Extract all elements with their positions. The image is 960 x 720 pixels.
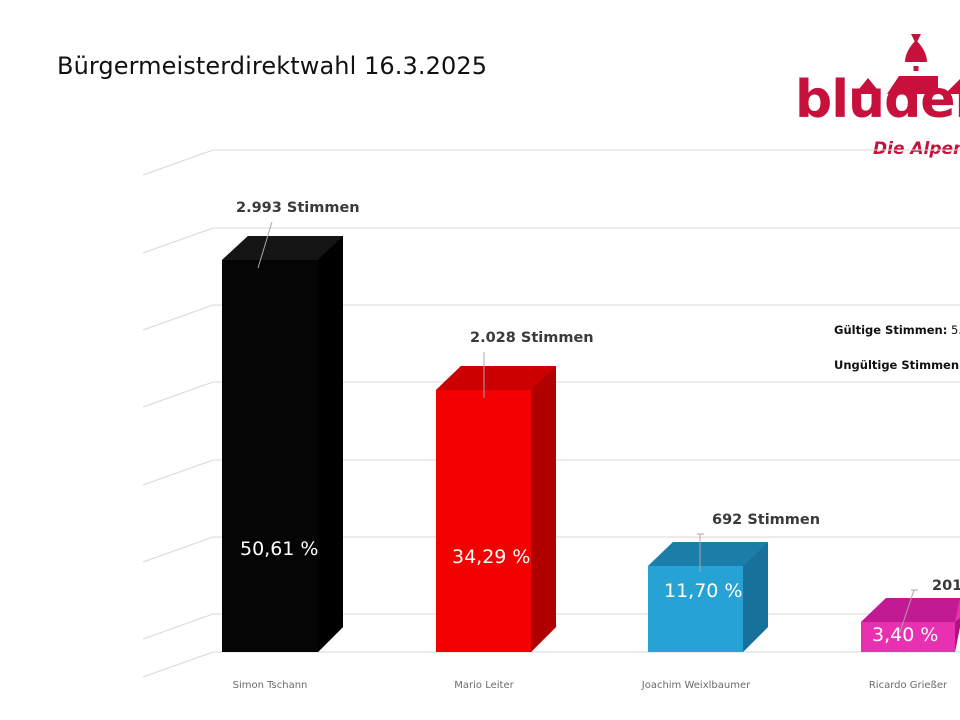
stat-ungueltige-stimmen: Ungültige Stimmen: 2	[834, 358, 960, 372]
slide-canvas: Bürgermeisterdirektwahl 16.3.2025 bluden…	[0, 0, 960, 720]
percent-label-bar-2: 34,29 %	[452, 546, 531, 568]
percent-label-bar-3: 11,70 %	[664, 580, 743, 602]
value-label-bar-4: 201	[932, 578, 960, 594]
category-label-3: Ricardo Grießer	[816, 680, 960, 691]
stat-gueltige-label: Gültige Stimmen:	[834, 323, 947, 337]
percent-label-bar-1: 50,61 %	[240, 538, 319, 560]
stat-gueltige-stimmen: Gültige Stimmen: 5.9	[834, 323, 960, 337]
category-label-0: Simon Tschann	[178, 680, 362, 691]
value-label-bar-3: 692 Stimmen	[712, 512, 820, 528]
value-label-bar-2: 2.028 Stimmen	[470, 330, 594, 346]
stat-ungueltige-label: Ungültige Stimmen:	[834, 358, 960, 372]
value-label-bar-1: 2.993 Stimmen	[236, 200, 360, 216]
category-label-2: Joachim Weixlbaumer	[604, 680, 788, 691]
stat-gueltige-value: 5.9	[951, 323, 960, 337]
bar-chart-3d	[0, 0, 960, 720]
bar-mario-leiter	[436, 366, 556, 652]
percent-label-bar-4: 3,40 %	[872, 624, 938, 646]
bar-simon-tschann	[222, 236, 343, 652]
category-label-1: Mario Leiter	[392, 680, 576, 691]
